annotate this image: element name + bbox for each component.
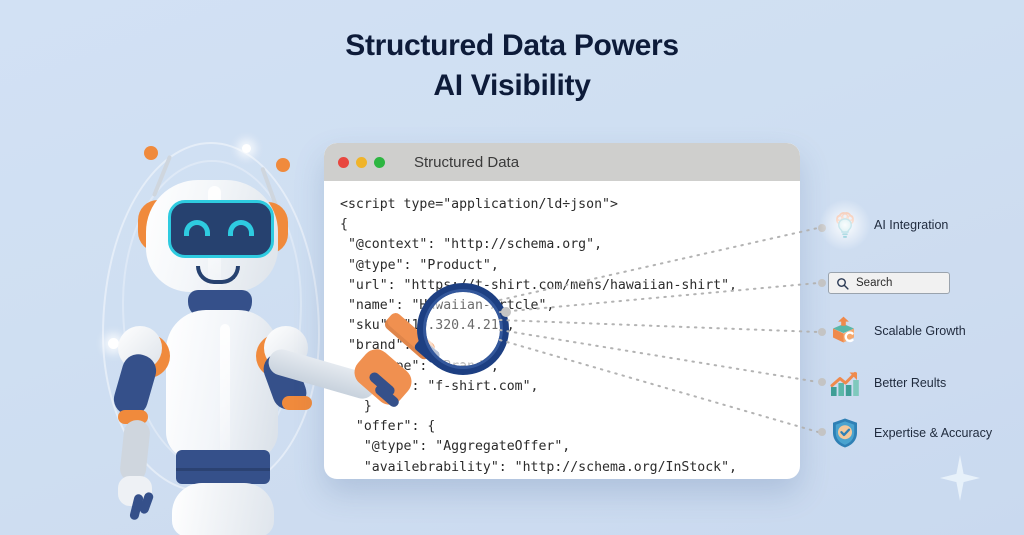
robot-forearm-left — [119, 419, 151, 483]
shield-check-icon — [828, 416, 862, 450]
page-title: Structured Data Powers AI Visibility — [0, 26, 1024, 105]
box-up-arrow-icon — [828, 314, 862, 348]
window-titlebar[interactable]: Structured Data — [324, 143, 800, 181]
minimize-button[interactable] — [356, 157, 367, 168]
search-input[interactable]: Search — [828, 272, 950, 294]
poster-canvas: Structured Data Powers AI Visibility — [0, 0, 1024, 535]
robot-elbow-cuff-right — [282, 396, 312, 410]
robot-belt — [176, 450, 270, 484]
sidebar-item-better-results[interactable]: Better Reults — [828, 366, 946, 400]
sidebar-item-label: Scalable Growth — [874, 324, 966, 338]
brain-bulb-icon — [828, 208, 862, 242]
bar-chart-arrow-icon — [828, 366, 862, 400]
sparkle-icon — [940, 455, 980, 501]
sidebar-item-label: Expertise & Accuracy — [874, 426, 992, 440]
sidebar-item-scalable-growth[interactable]: Scalable Growth — [828, 314, 966, 348]
close-button[interactable] — [338, 157, 349, 168]
title-line-1: Structured Data Powers — [345, 29, 679, 62]
robot-antenna-ball-right — [276, 158, 290, 172]
icon-glow — [819, 199, 871, 251]
magnifier-illustration — [417, 283, 509, 375]
title-line-2: AI Visibility — [0, 66, 1024, 106]
maximize-button[interactable] — [374, 157, 385, 168]
robot-pelvis — [172, 483, 274, 535]
sidebar-item-expertise-accuracy[interactable]: Expertise & Accuracy — [828, 416, 992, 450]
magnifier-lens-inner-ring — [423, 289, 503, 369]
robot-illustration — [96, 138, 328, 513]
glow-dot — [242, 144, 251, 153]
robot-torso-highlight — [220, 324, 230, 454]
sidebar-item-label: AI Integration — [874, 218, 948, 232]
search-input-value: Search — [856, 277, 892, 289]
robot-belt-stripe — [176, 468, 270, 471]
sidebar-item-label: Better Reults — [874, 376, 946, 390]
robot-antenna-ball-left — [144, 146, 158, 160]
sidebar-item-ai-integration[interactable]: AI Integration — [828, 208, 948, 242]
window-title: Structured Data — [414, 154, 519, 171]
search-icon — [836, 277, 849, 290]
code-window: Structured Data <script type="applicatio… — [324, 143, 800, 479]
